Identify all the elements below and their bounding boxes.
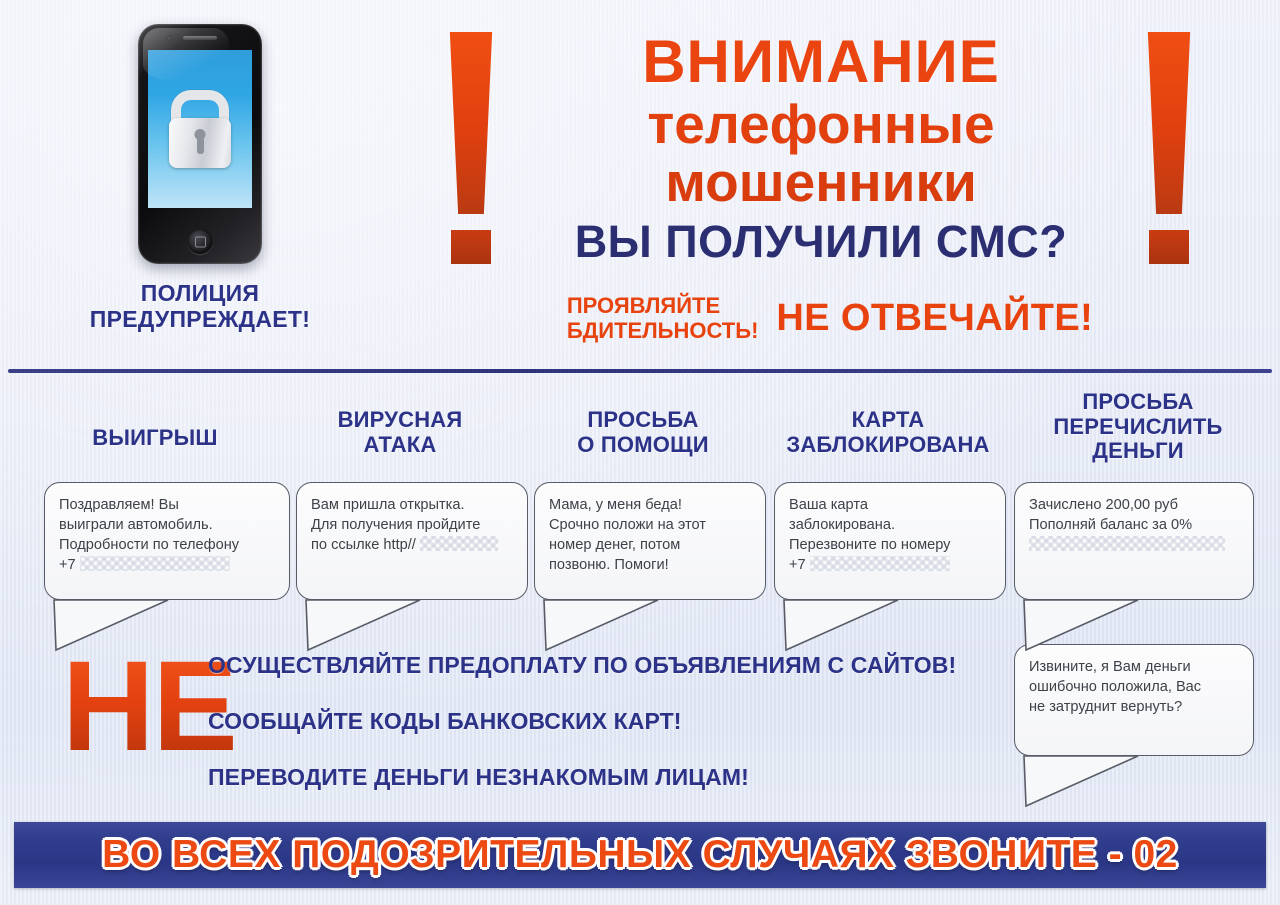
emergency-call-banner: ВО ВСЕХ ПОДОЗРИТЕЛЬНЫХ СЛУЧАЯХ ЗВОНИТЕ -… — [14, 822, 1266, 888]
sms-line: выиграли автомобиль. — [59, 515, 277, 535]
sms-line: Ваша карта — [789, 495, 993, 515]
category-card-line1: КАРТА — [768, 408, 1008, 433]
sms-line: Извините, я Вам деньги — [1029, 657, 1241, 677]
sms-line: Срочно положи на этот — [549, 515, 753, 535]
category-help-line2: О ПОМОЩИ — [528, 433, 758, 458]
category-virus-attack: ВИРУСНАЯ АТАКА — [290, 408, 510, 457]
headline-scammers: мошенники — [516, 154, 1126, 210]
sms-bubble-virus-text: Вам пришла открытка.Для получения пройди… — [311, 495, 515, 555]
sms-line: позвоню. Помоги! — [549, 555, 753, 575]
category-virus-line1: ВИРУСНАЯ — [290, 408, 510, 433]
redacted-value — [420, 536, 498, 551]
sms-line: Перезвоните по номеру — [789, 535, 993, 555]
scam-category-headers: ВЫИГРЫШ ВИРУСНАЯ АТАКА ПРОСЬБА О ПОМОЩИ … — [0, 386, 1280, 476]
sms-line-redacted: +7 — [59, 555, 277, 575]
police-caption: ПОЛИЦИЯ ПРЕДУПРЕЖДАЕТ! — [84, 280, 316, 332]
smartphone-illustration — [138, 24, 262, 264]
do-not-answer-text: НЕ ОТВЕЧАЙТЕ! — [776, 297, 1093, 340]
vigilance-line1: ПРОЯВЛЯЙТЕ — [567, 294, 759, 319]
exclamation-mark-left-icon — [448, 32, 494, 264]
sms-line: Подробности по телефону — [59, 535, 277, 555]
category-transfer-line2: ПЕРЕЧИСЛИТЬ — [1008, 415, 1268, 440]
category-win: ВЫИГРЫШ — [40, 426, 270, 451]
police-caption-line2: ПРЕДУПРЕЖДАЕТ! — [84, 306, 316, 332]
bubble-tail-refund — [1018, 754, 1168, 810]
vigilance-text: ПРОЯВЛЯЙТЕ БДИТЕЛЬНОСТЬ! — [567, 294, 759, 343]
warning-item-card-codes: СООБЩАЙТЕ КОДЫ БАНКОВСКИХ КАРТ! — [208, 708, 1008, 735]
sms-bubble-transfer-text: Зачислено 200,00 рубПополняй баланс за 0… — [1029, 495, 1241, 555]
sms-bubble-help: Мама, у меня беда!Срочно положи на этотн… — [534, 482, 766, 600]
sms-bubble-card-text: Ваша картазаблокирована.Перезвоните по н… — [789, 495, 993, 576]
headline-telephone: телефонные — [516, 96, 1126, 152]
category-transfer-line3: ДЕНЬГИ — [1008, 439, 1268, 464]
section-divider — [8, 369, 1272, 373]
vigilance-line2: БДИТЕЛЬНОСТЬ! — [567, 319, 759, 344]
category-help-request: ПРОСЬБА О ПОМОЩИ — [528, 408, 758, 457]
sms-bubble-win: Поздравляем! Вывыиграли автомобиль.Подро… — [44, 482, 290, 600]
sms-line: Зачислено 200,00 руб — [1029, 495, 1241, 515]
camera-icon — [166, 35, 172, 41]
category-virus-line2: АТАКА — [290, 433, 510, 458]
headline-attention: ВНИМАНИЕ — [516, 32, 1126, 92]
exclamation-mark-right-icon — [1146, 32, 1192, 264]
sms-line: Вам пришла открытка. — [311, 495, 515, 515]
warning-list: ОСУЩЕСТВЛЯЙТЕ ПРЕДОПЛАТУ ПО ОБЪЯВЛЕНИЯМ … — [208, 652, 1008, 791]
sms-bubble-win-text: Поздравляем! Вывыиграли автомобиль.Подро… — [59, 495, 277, 576]
sms-line: Пополняй баланс за 0% — [1029, 515, 1241, 535]
sms-bubble-card: Ваша картазаблокирована.Перезвоните по н… — [774, 482, 1006, 600]
sms-bubble-refund-text: Извините, я Вам деньгиошибочно положила,… — [1029, 657, 1241, 717]
poster-root: ПОЛИЦИЯ ПРЕДУПРЕЖДАЕТ! ВНИМАНИЕ телефонн… — [0, 0, 1280, 905]
warning-item-transfer-strangers: ПЕРЕВОДИТЕ ДЕНЬГИ НЕЗНАКОМЫМ ЛИЦАМ! — [208, 764, 1008, 791]
sms-bubble-virus: Вам пришла открытка.Для получения пройди… — [296, 482, 528, 600]
sms-line: заблокирована. — [789, 515, 993, 535]
category-help-line1: ПРОСЬБА — [528, 408, 758, 433]
sms-bubble-refund: Извините, я Вам деньгиошибочно положила,… — [1014, 644, 1254, 756]
sms-line: Мама, у меня беда! — [549, 495, 753, 515]
sms-line-redacted: +7 — [789, 555, 993, 575]
sms-line-redacted: по ссылке http// — [311, 535, 515, 555]
category-transfer-money: ПРОСЬБА ПЕРЕЧИСЛИТЬ ДЕНЬГИ — [1008, 390, 1268, 464]
category-card-line2: ЗАБЛОКИРОВАНА — [768, 433, 1008, 458]
speaker-grill — [183, 36, 217, 40]
emergency-call-text: ВО ВСЕХ ПОДОЗРИТЕЛЬНЫХ СЛУЧАЯХ ЗВОНИТЕ -… — [102, 833, 1178, 877]
phone-screen — [148, 50, 252, 208]
police-caption-line1: ПОЛИЦИЯ — [84, 280, 316, 306]
sms-line: Поздравляем! Вы — [59, 495, 277, 515]
headline-received-sms: ВЫ ПОЛУЧИЛИ СМС? — [516, 218, 1126, 265]
do-not-warning-block: НЕ ОСУЩЕСТВЛЯЙТЕ ПРЕДОПЛАТУ ПО ОБЪЯВЛЕНИ… — [62, 644, 1012, 804]
sms-line: не затруднит вернуть? — [1029, 697, 1241, 717]
sms-line: номер денег, потом — [549, 535, 753, 555]
sms-line: Для получения пройдите — [311, 515, 515, 535]
sms-bubble-transfer: Зачислено 200,00 рубПополняй баланс за 0… — [1014, 482, 1254, 600]
redacted-value — [80, 556, 230, 571]
police-warning-block: ПОЛИЦИЯ ПРЕДУПРЕЖДАЕТ! — [84, 24, 316, 332]
sms-bubble-help-text: Мама, у меня беда!Срочно положи на этотн… — [549, 495, 753, 576]
home-button-icon — [188, 229, 213, 254]
category-transfer-line1: ПРОСЬБА — [1008, 390, 1268, 415]
redacted-value — [1029, 536, 1225, 551]
redacted-value — [810, 556, 950, 571]
top-section: ПОЛИЦИЯ ПРЕДУПРЕЖДАЕТ! ВНИМАНИЕ телефонн… — [0, 0, 1280, 372]
headline-subrow: ПРОЯВЛЯЙТЕ БДИТЕЛЬНОСТЬ! НЕ ОТВЕЧАЙТЕ! — [480, 294, 1180, 343]
sms-line-redacted — [1029, 535, 1241, 555]
padlock-icon — [169, 90, 231, 168]
category-win-line1: ВЫИГРЫШ — [40, 426, 270, 451]
category-card-blocked: КАРТА ЗАБЛОКИРОВАНА — [768, 408, 1008, 457]
headline-block: ВНИМАНИЕ телефонные мошенники ВЫ ПОЛУЧИЛ… — [440, 18, 1200, 368]
warning-item-prepayment: ОСУЩЕСТВЛЯЙТЕ ПРЕДОПЛАТУ ПО ОБЪЯВЛЕНИЯМ … — [208, 652, 1008, 679]
sms-line: ошибочно положила, Вас — [1029, 677, 1241, 697]
headline-text: ВНИМАНИЕ телефонные мошенники ВЫ ПОЛУЧИЛ… — [516, 18, 1126, 265]
